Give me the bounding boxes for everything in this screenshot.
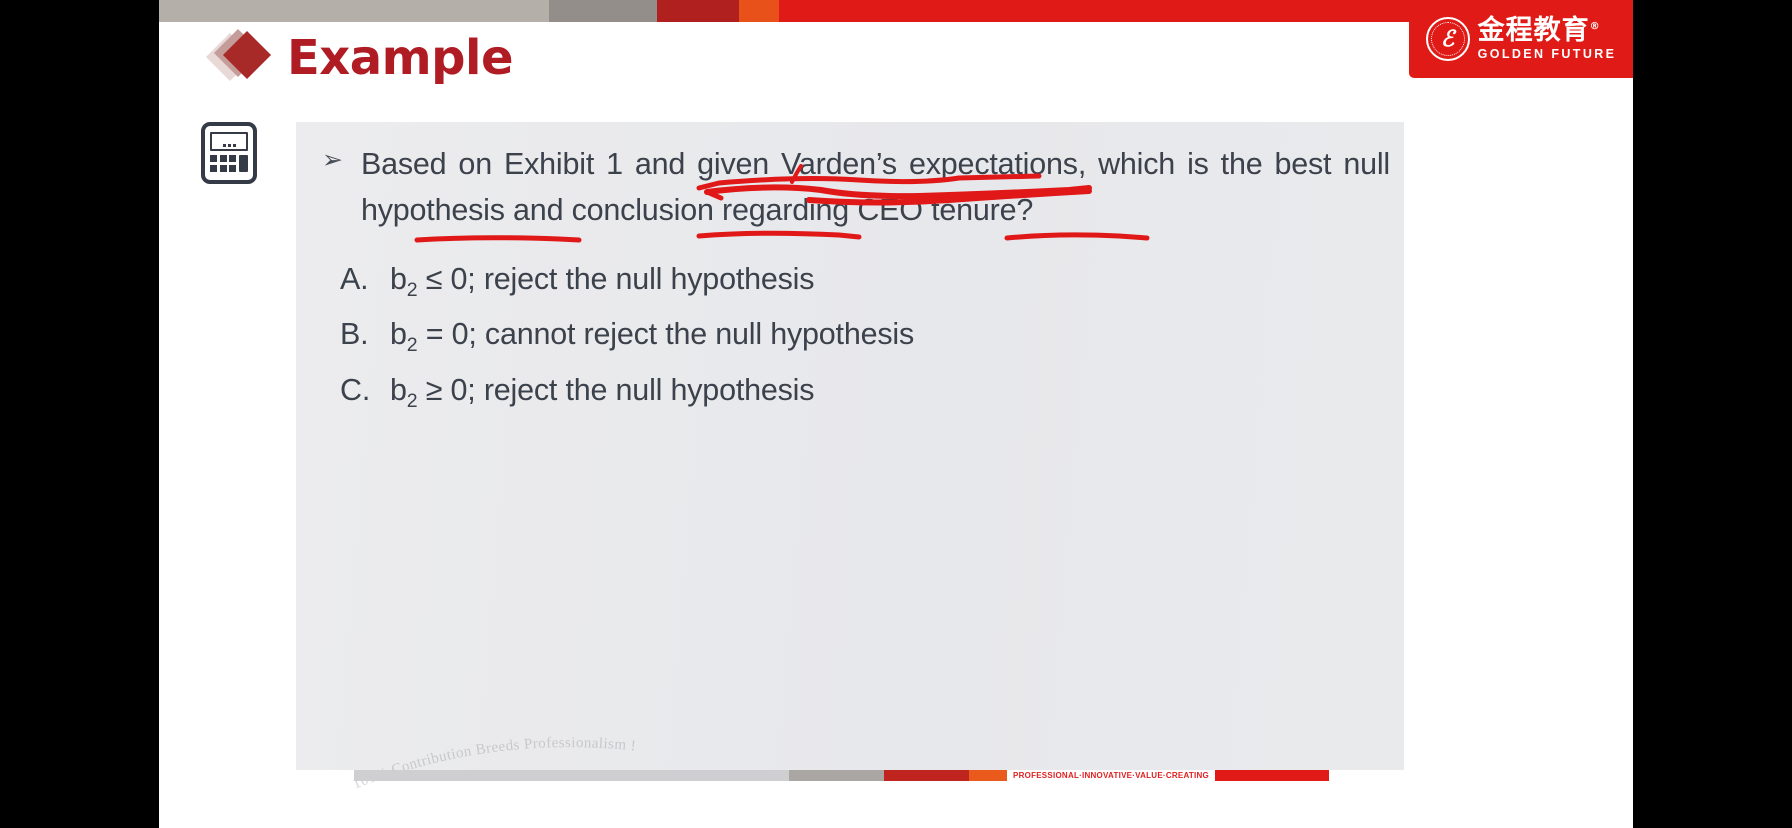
calculator-display-dot-icon	[233, 144, 236, 147]
calculator-key-icon	[220, 155, 227, 162]
ribbon-segment-orange	[739, 0, 779, 22]
option-a-rest: ≤ 0; reject the null hypothesis	[417, 262, 814, 296]
footer-tagline: PROFESSIONAL·INNOVATIVE·VALUE·CREATING	[1007, 770, 1215, 781]
option-a-variable: b	[390, 262, 407, 296]
footer-arc-tagline: 101% Contribution Breeds Professionalism…	[349, 735, 679, 795]
logo-wordmark: 金程教育® GOLDEN FUTURE	[1478, 17, 1617, 61]
registered-mark-icon: ®	[1590, 21, 1601, 32]
calculator-icon	[201, 122, 257, 184]
bullet-arrow-icon: ➢	[316, 142, 343, 234]
question-row: ➢ Based on Exhibit 1 and given Varden’s …	[316, 142, 1390, 234]
calculator-key-grid-icon	[210, 155, 236, 172]
option-a-subscript: 2	[407, 279, 418, 301]
footer-color-ribbon: PROFESSIONAL·INNOVATIVE·VALUE·CREATING	[354, 770, 1433, 781]
diamond-bullet-icon	[211, 26, 275, 90]
option-b-subscript: 2	[407, 334, 418, 356]
footer-ribbon-segment-gray-left	[354, 770, 789, 781]
calculator-key-icon	[210, 155, 217, 162]
calculator-display-dot-icon	[223, 144, 226, 147]
option-c-variable: b	[390, 373, 407, 407]
calculator-key-icon	[229, 165, 236, 172]
option-c-subscript: 2	[407, 390, 418, 412]
logo-chinese-name: 金程教育®	[1478, 17, 1617, 44]
option-label-b: B.	[340, 307, 390, 363]
option-b-variable: b	[390, 317, 407, 351]
ribbon-segment-dark-red	[657, 0, 739, 22]
calculator-key-icon	[210, 165, 217, 172]
page-title: Example	[287, 34, 513, 82]
option-text-c: b2 ≥ 0; reject the null hypothesis	[390, 363, 814, 419]
answer-options-list: A. b2 ≤ 0; reject the null hypothesis B.…	[316, 252, 1390, 419]
content-panel: ➢ Based on Exhibit 1 and given Varden’s …	[296, 122, 1404, 770]
option-b-rest: = 0; cannot reject the null hypothesis	[417, 317, 914, 351]
slide-title-row: Example	[211, 26, 513, 90]
brand-logo: ℰ 金程教育® GOLDEN FUTURE	[1409, 0, 1633, 78]
logo-chinese-text: 金程教育	[1478, 15, 1590, 46]
footer-arc-text: 101% Contribution Breeds Professionalism…	[350, 735, 636, 793]
calculator-display-dot-icon	[228, 144, 231, 147]
presentation-slide: ℰ 金程教育® GOLDEN FUTURE Example	[159, 0, 1633, 828]
footer-ribbon-segment-red-bright	[1215, 770, 1329, 781]
screen-letterbox: ℰ 金程教育® GOLDEN FUTURE Example	[0, 0, 1792, 828]
logo-seal-icon: ℰ	[1426, 17, 1470, 61]
logo-seal-glyph: ℰ	[1441, 28, 1454, 50]
option-text-a: b2 ≤ 0; reject the null hypothesis	[390, 252, 814, 308]
calculator-keypad-icon	[210, 155, 248, 172]
ribbon-segment-light-gray	[159, 0, 549, 22]
calculator-key-icon	[229, 155, 236, 162]
footer-ribbon-segment-gray-mid	[789, 770, 884, 781]
footer-ribbon-segment-red-dark	[884, 770, 969, 781]
calculator-key-icon	[220, 165, 227, 172]
option-label-c: C.	[340, 363, 390, 419]
question-block: ➢ Based on Exhibit 1 and given Varden’s …	[316, 142, 1390, 419]
answer-option-c[interactable]: C. b2 ≥ 0; reject the null hypothesis	[340, 363, 1390, 419]
calculator-display-icon	[210, 132, 248, 151]
option-label-a: A.	[340, 252, 390, 308]
question-text: Based on Exhibit 1 and given Varden’s ex…	[361, 142, 1390, 234]
option-text-b: b2 = 0; cannot reject the null hypothesi…	[390, 307, 914, 363]
footer-ribbon-segment-orange	[969, 770, 1007, 781]
answer-option-b[interactable]: B. b2 = 0; cannot reject the null hypoth…	[340, 307, 1390, 363]
ribbon-segment-mid-gray	[549, 0, 657, 22]
logo-english-name: GOLDEN FUTURE	[1478, 48, 1617, 61]
answer-option-a[interactable]: A. b2 ≤ 0; reject the null hypothesis	[340, 252, 1390, 308]
calculator-enter-key-icon	[239, 155, 248, 172]
option-c-rest: ≥ 0; reject the null hypothesis	[417, 373, 814, 407]
